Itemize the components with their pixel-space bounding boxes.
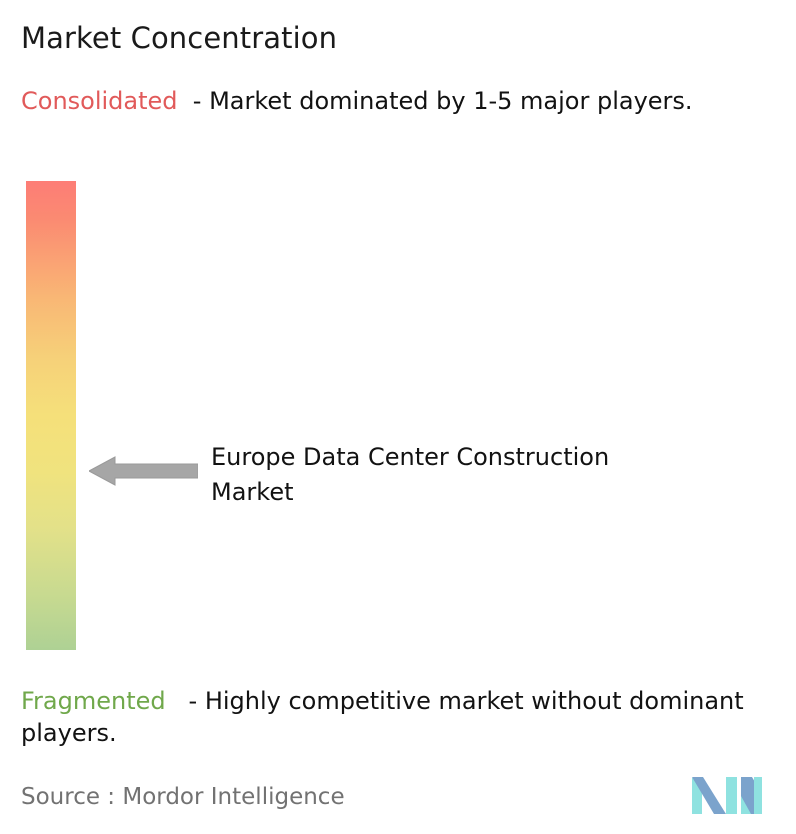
legend-consolidated-description: - Market dominated by 1-5 major players. <box>193 87 693 115</box>
legend-fragmented-keyword: Fragmented <box>21 687 166 715</box>
legend-fragmented-separator <box>166 687 189 715</box>
source-attribution: Source : Mordor Intelligence <box>21 782 345 812</box>
market-concentration-scale-bar <box>26 181 76 650</box>
legend-fragmented: Fragmented - Highly competitive market w… <box>21 685 789 749</box>
legend-consolidated: Consolidated - Market dominated by 1-5 m… <box>21 85 781 117</box>
legend-consolidated-separator <box>178 87 193 115</box>
page-title: Market Concentration <box>21 20 337 56</box>
legend-consolidated-keyword: Consolidated <box>21 87 178 115</box>
callout-label: Europe Data Center Construction Market <box>211 440 631 510</box>
market-concentration-chart: Market Concentration Consolidated - Mark… <box>0 0 796 834</box>
callout-arrow-icon <box>89 456 198 486</box>
mordor-intelligence-logo-icon <box>692 772 762 814</box>
